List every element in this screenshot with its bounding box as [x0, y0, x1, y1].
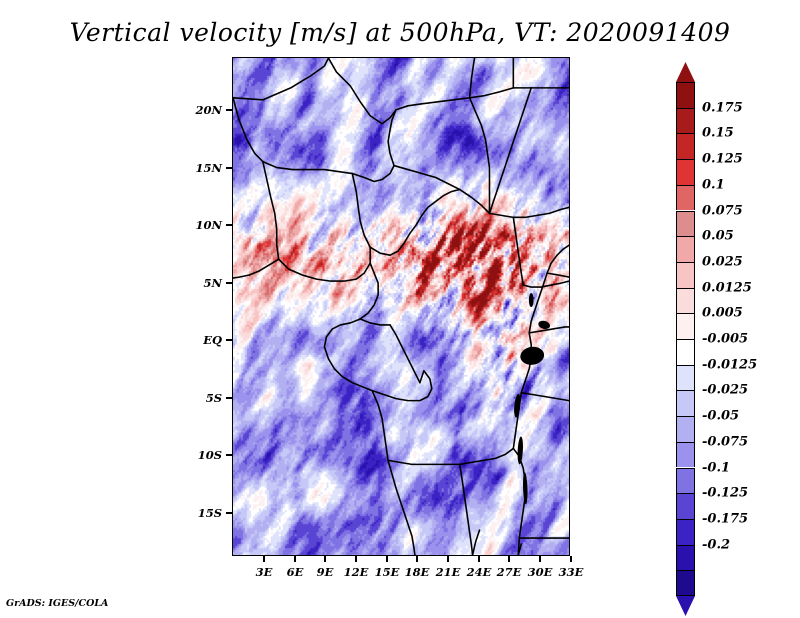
colorbar-label-3: 0.1 [702, 177, 725, 192]
colorbar-label-16: -0.175 [702, 511, 748, 526]
xtick-label-9E: 9E [317, 565, 334, 579]
xtick-label-6E: 6E [287, 565, 304, 579]
xtick-label-33E: 33E [559, 565, 584, 579]
colorbar-label-7: 0.0125 [702, 280, 752, 295]
colorbar-band-15 [676, 468, 695, 494]
grads-credit: GrADS: IGES/COLA [6, 598, 108, 609]
colorbar-cap-top [676, 62, 695, 82]
country-borders-overlay [233, 58, 569, 555]
ytick-label-10S: 10S [176, 448, 222, 462]
colorbar-band-8 [676, 288, 695, 314]
lakes-overlay [513, 293, 551, 504]
colorbar-band-16 [676, 493, 695, 519]
ytick-20N [226, 109, 232, 111]
colorbar-label-12: -0.05 [702, 409, 739, 424]
colorbar-band-6 [676, 236, 695, 262]
colorbar-label-5: 0.05 [702, 229, 734, 244]
xtick-33E [570, 556, 572, 562]
colorbar-label-1: 0.15 [702, 126, 734, 141]
colorbar-label-17: -0.2 [702, 537, 730, 552]
colorbar-label-0: 0.175 [702, 100, 743, 115]
colorbar-cap-bottom [676, 596, 695, 616]
xtick-label-27E: 27E [497, 565, 522, 579]
colorbar-band-13 [676, 416, 695, 442]
xtick-label-24E: 24E [467, 565, 492, 579]
ytick-EQ [226, 339, 232, 341]
xtick-15E [386, 556, 388, 562]
xtick-label-12E: 12E [344, 565, 369, 579]
ytick-5N [226, 282, 232, 284]
xtick-9E [324, 556, 326, 562]
colorbar-band-17 [676, 519, 695, 545]
page-title: Vertical velocity [m/s] at 500hPa, VT: 2… [0, 18, 800, 47]
ytick-label-EQ: EQ [176, 333, 222, 347]
colorbar-band-18 [676, 545, 695, 571]
ytick-label-5N: 5N [176, 276, 222, 290]
colorbar-label-4: 0.075 [702, 203, 743, 218]
colorbar-band-14 [676, 442, 695, 468]
colorbar-band-0 [676, 82, 695, 108]
xtick-24E [478, 556, 480, 562]
colorbar-band-2 [676, 133, 695, 159]
colorbar [676, 62, 695, 556]
ytick-10S [226, 454, 232, 456]
xtick-21E [447, 556, 449, 562]
ytick-label-10N: 10N [176, 218, 222, 232]
colorbar-label-8: 0.005 [702, 306, 743, 321]
colorbar-band-12 [676, 390, 695, 416]
xtick-label-15E: 15E [375, 565, 400, 579]
ytick-label-20N: 20N [176, 103, 222, 117]
xtick-6E [294, 556, 296, 562]
ytick-label-5S: 5S [176, 391, 222, 405]
colorbar-band-5 [676, 211, 695, 237]
national-boundaries [233, 58, 569, 555]
xtick-30E [539, 556, 541, 562]
map-plot-area [232, 57, 570, 556]
colorbar-band-1 [676, 108, 695, 134]
colorbar-label-13: -0.075 [702, 434, 748, 449]
colorbar-label-2: 0.125 [702, 152, 743, 167]
ytick-5S [226, 397, 232, 399]
colorbar-band-7 [676, 262, 695, 288]
xtick-12E [355, 556, 357, 562]
xtick-27E [508, 556, 510, 562]
colorbar-band-11 [676, 365, 695, 391]
colorbar-band-19 [676, 570, 695, 596]
colorbar-label-14: -0.1 [702, 460, 730, 475]
colorbar-band-9 [676, 313, 695, 339]
colorbar-label-6: 0.025 [702, 254, 743, 269]
xtick-label-21E: 21E [436, 565, 461, 579]
ytick-label-15S: 15S [176, 506, 222, 520]
colorbar-band-10 [676, 339, 695, 365]
ytick-label-15N: 15N [176, 161, 222, 175]
colorbar-band-4 [676, 185, 695, 211]
xtick-label-30E: 30E [528, 565, 553, 579]
xtick-3E [263, 556, 265, 562]
xtick-label-3E: 3E [256, 565, 273, 579]
colorbar-label-15: -0.125 [702, 486, 748, 501]
colorbar-label-9: -0.005 [702, 332, 748, 347]
colorbar-label-10: -0.0125 [702, 357, 757, 372]
xtick-label-18E: 18E [405, 565, 430, 579]
colorbar-band-3 [676, 159, 695, 185]
ytick-10N [226, 224, 232, 226]
ytick-15N [226, 167, 232, 169]
xtick-18E [416, 556, 418, 562]
colorbar-label-11: -0.025 [702, 383, 748, 398]
ytick-15S [226, 512, 232, 514]
